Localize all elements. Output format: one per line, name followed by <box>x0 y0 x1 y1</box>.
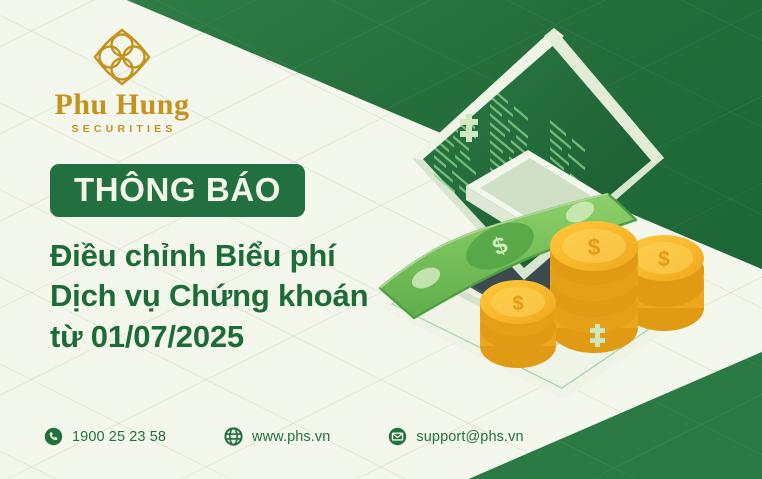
contact-website-text: www.phs.vn <box>252 429 330 445</box>
coin-stack-left: $ <box>480 280 556 368</box>
quatrefoil-logo-icon <box>91 26 153 88</box>
svg-text:$: $ <box>588 234 601 260</box>
brand-logo: Phu Hung SECURITIES <box>47 26 197 135</box>
headline-line-2: Dịch vụ Chứng khoán <box>50 276 368 316</box>
envelope-icon <box>388 427 407 446</box>
coin-stack-center: $ <box>550 221 638 353</box>
svg-text:$: $ <box>512 293 523 315</box>
contact-email-text: support@phs.vn <box>416 429 523 445</box>
contact-email[interactable]: support@phs.vn <box>388 427 523 446</box>
headline-line-1: Điều chỉnh Biểu phí <box>50 236 368 276</box>
notice-banner: Phu Hung SECURITIES THÔNG BÁO Điều chỉnh… <box>0 0 762 479</box>
contact-website[interactable]: www.phs.vn <box>224 427 330 446</box>
contact-bar: 1900 25 23 58 www.phs.vn support@phs.vn <box>44 427 524 446</box>
laptop-cash-dispense-illustration: $ $ <box>368 8 762 400</box>
page-title: Điều chỉnh Biểu phí Dịch vụ Chứng khoán … <box>50 236 368 357</box>
brand-name: Phu Hung <box>47 90 197 120</box>
svg-text:$: $ <box>658 248 670 271</box>
globe-icon <box>224 427 243 446</box>
contact-phone-text: 1900 25 23 58 <box>72 429 166 445</box>
headline-line-3: từ 01/07/2025 <box>50 317 368 357</box>
status-badge: THÔNG BÁO <box>50 164 305 217</box>
contact-phone[interactable]: 1900 25 23 58 <box>44 427 166 446</box>
brand-subtitle: SECURITIES <box>47 123 197 135</box>
phone-icon <box>44 427 63 446</box>
